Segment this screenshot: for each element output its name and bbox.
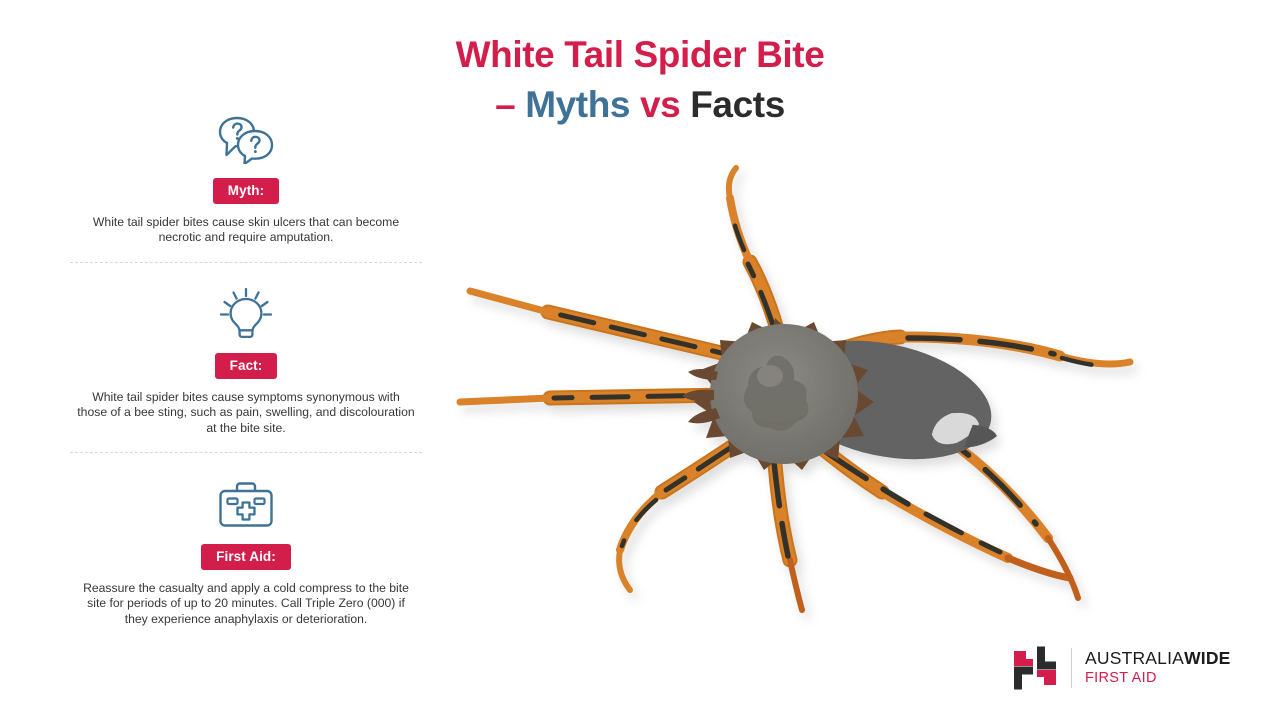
lightbulb-icon bbox=[70, 283, 422, 345]
myth-fact-firstaid-panel: Myth: White tail spider bites cause skin… bbox=[70, 108, 422, 627]
title-word-facts: Facts bbox=[690, 84, 785, 125]
logo-company-name: AUSTRALIAWIDE bbox=[1085, 649, 1231, 668]
first-aid-kit-icon bbox=[70, 474, 422, 536]
text-myth: White tail spider bites cause skin ulcer… bbox=[70, 215, 422, 246]
divider-1 bbox=[70, 262, 422, 263]
white-tail-spider-illustration bbox=[430, 140, 1170, 640]
australia-wide-pinwheel-cross-logo bbox=[1012, 645, 1058, 691]
text-fact: White tail spider bites cause symptoms s… bbox=[70, 390, 422, 436]
divider-2 bbox=[70, 452, 422, 453]
title-word-myths: Myths bbox=[525, 84, 630, 125]
logo-wordmark: AUSTRALIAWIDE FIRST AID bbox=[1085, 649, 1231, 687]
title-line-1: White Tail Spider Bite bbox=[340, 36, 940, 73]
logo-name-light: AUSTRALIA bbox=[1085, 648, 1184, 668]
title-line-2: – Myths vs Facts bbox=[340, 86, 940, 123]
title-word-vs: vs bbox=[640, 84, 680, 125]
logo-divider bbox=[1071, 648, 1072, 688]
badge-fact: Fact: bbox=[215, 353, 278, 379]
page-title: White Tail Spider Bite – Myths vs Facts bbox=[340, 36, 940, 123]
section-myth: Myth: White tail spider bites cause skin… bbox=[70, 108, 422, 263]
text-first-aid: Reassure the casualty and apply a cold c… bbox=[70, 581, 422, 627]
logo-name-bold: WIDE bbox=[1184, 648, 1231, 668]
title-dash: – bbox=[495, 84, 515, 125]
australia-wide-first-aid-logo[interactable]: AUSTRALIAWIDE FIRST AID bbox=[1012, 645, 1231, 691]
badge-myth: Myth: bbox=[213, 178, 280, 204]
badge-first-aid: First Aid: bbox=[201, 544, 291, 570]
section-fact: Fact: White tail spider bites cause symp… bbox=[70, 283, 422, 453]
speech-bubbles-question-icon bbox=[70, 108, 422, 170]
section-first-aid: First Aid: Reassure the casualty and app… bbox=[70, 474, 422, 627]
logo-tagline: FIRST AID bbox=[1085, 671, 1231, 687]
